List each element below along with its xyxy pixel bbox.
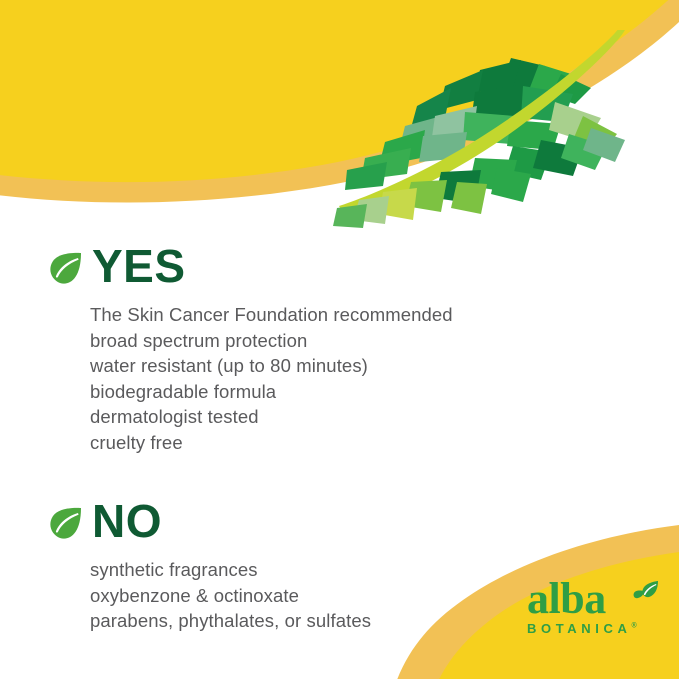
no-section-header: NO [48, 495, 371, 547]
leaf-sprig-icon [633, 580, 659, 602]
yes-section: YES The Skin Cancer Foundation recommend… [48, 240, 453, 455]
brand-wordmark-row: alba [527, 578, 655, 620]
list-item: synthetic fragrances [90, 557, 371, 583]
leaf-icon [48, 250, 84, 286]
list-item: dermatologist tested [90, 404, 453, 430]
yes-item-list: The Skin Cancer Foundation recommended b… [90, 302, 453, 455]
no-item-list: synthetic fragrances oxybenzone & octino… [90, 557, 371, 634]
registered-mark: ® [631, 623, 636, 630]
brand-wordmark: alba [527, 574, 606, 623]
leaf-icon [48, 505, 84, 541]
list-item: broad spectrum protection [90, 328, 453, 354]
no-title: NO [92, 498, 162, 544]
list-item: water resistant (up to 80 minutes) [90, 353, 453, 379]
list-item: cruelty free [90, 430, 453, 456]
list-item: biodegradable formula [90, 379, 453, 405]
brand-subtitle-text: BOTANICA [527, 621, 631, 636]
product-feature-graphic: YES The Skin Cancer Foundation recommend… [0, 0, 679, 679]
no-section: NO synthetic fragrances oxybenzone & oct… [48, 495, 371, 634]
list-item: The Skin Cancer Foundation recommended [90, 302, 453, 328]
brand-subtitle: BOTANICA® [527, 621, 655, 636]
list-item: oxybenzone & octinoxate [90, 583, 371, 609]
yes-section-header: YES [48, 240, 453, 292]
content-area: YES The Skin Cancer Foundation recommend… [0, 0, 679, 679]
yes-title: YES [92, 243, 186, 289]
brand-logo: alba BOTANICA® [527, 578, 655, 640]
list-item: parabens, phythalates, or sulfates [90, 608, 371, 634]
